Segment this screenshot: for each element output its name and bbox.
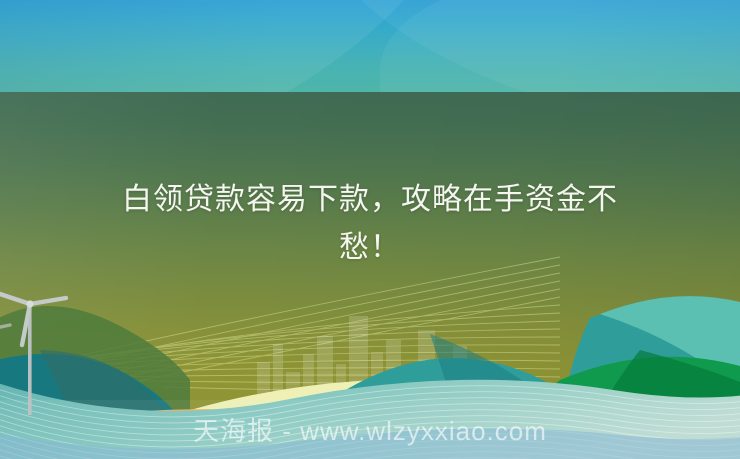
poster-canvas: 白领贷款容易下款，攻略在手资金不 愁！ 天海报 - www.wlzyxxiao.…: [0, 0, 740, 459]
wind-turbine-icon: [0, 292, 66, 415]
page-title: 白领贷款容易下款，攻略在手资金不 愁！: [0, 176, 740, 272]
sky-shade-overlay: [0, 0, 740, 92]
turbines-svg: [0, 285, 130, 420]
wind-turbines: [0, 285, 130, 420]
watermark-text: 天海报 - www.wlzyxxiao.com: [0, 411, 740, 448]
wind-turbine-icon-secondary: [0, 321, 10, 415]
